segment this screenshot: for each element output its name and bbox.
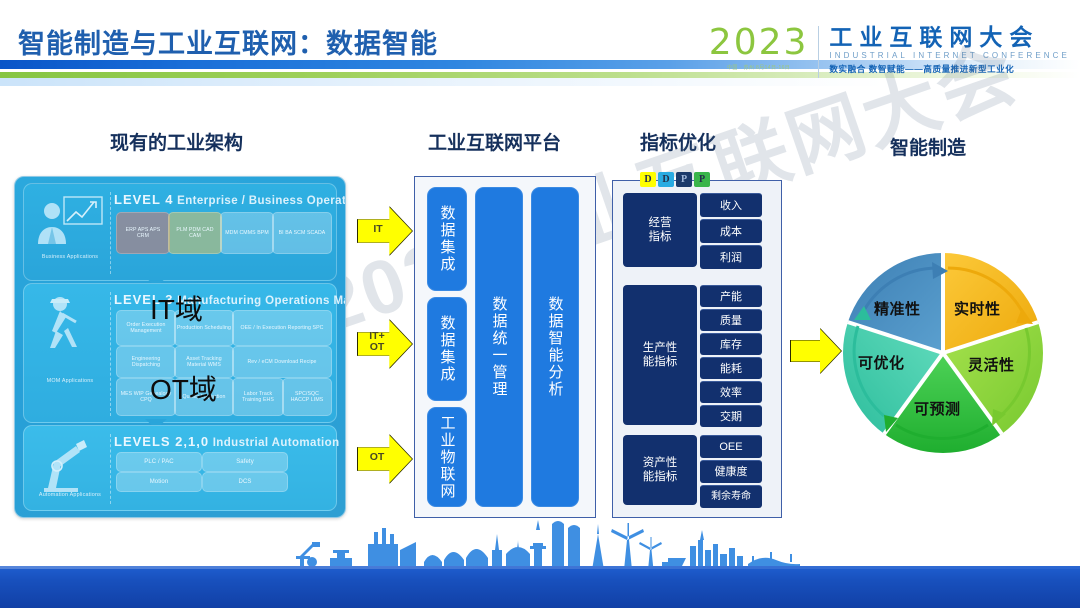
industrial-internet-platform-panel: 数据集成 数据集成 工业物联网 数据统一管理 数据智能分析 bbox=[414, 176, 596, 518]
indicator-tab-d1[interactable]: D bbox=[640, 172, 656, 187]
platform-block-unified-data-management[interactable]: 数据统一管理 bbox=[475, 187, 523, 507]
architecture-level-4: Business Applications LEVEL 4 Enterprise… bbox=[23, 183, 337, 281]
sea-band bbox=[0, 566, 1080, 608]
architecture-level-210-title: LEVELS 2,1,0 Industrial Automation bbox=[114, 434, 340, 449]
indicator-optimization-panel: 经营 指标 收入 成本 利润 生产性 能指标 产能 质量 库存 能耗 效率 交期… bbox=[612, 180, 782, 518]
architecture-chip: ERP APS APS CRM bbox=[116, 212, 170, 254]
architecture-chip: PLC / PAC bbox=[116, 452, 202, 472]
column-heading-indicators: 指标优化 bbox=[640, 128, 716, 155]
architecture-level-4-role: Business Applications bbox=[30, 254, 110, 260]
architecture-chip: BI BA SCM SCADA bbox=[272, 212, 332, 254]
conference-logo: 2023 中国 · 苏州 8月14日-16日 工业互联网大会 INDUSTRIA… bbox=[709, 24, 1070, 86]
logo-english-name: INDUSTRIAL INTERNET CONFERENCE bbox=[829, 51, 1070, 60]
indicator-item[interactable]: 健康度 bbox=[700, 460, 762, 483]
indicator-item[interactable]: OEE bbox=[700, 435, 762, 458]
logo-chinese-name: 工业互联网大会 bbox=[829, 24, 1070, 50]
flow-arrow-it-ot-label: IT+ OT bbox=[360, 331, 394, 353]
platform-block-data-integration-2[interactable]: 数据集成 bbox=[427, 297, 467, 401]
architecture-chip: Rev / eCM Download Recipe bbox=[232, 346, 332, 378]
indicator-item[interactable]: 效率 bbox=[700, 381, 762, 403]
architecture-chip: SPC/SQC HACCP LIMS bbox=[282, 378, 332, 416]
pie-label-flexibility: 灵活性 bbox=[968, 354, 1015, 375]
architecture-level-3-separator bbox=[110, 292, 112, 416]
flow-arrow-it-label: IT bbox=[362, 224, 394, 235]
architecture-level-3-title: LEVEL 3 Manufacturing Operations Managem… bbox=[114, 292, 346, 307]
indicator-tab-strip: D D P P bbox=[640, 172, 710, 187]
logo-year-subtitle: 中国 · 苏州 8月14日-16日 bbox=[709, 64, 809, 71]
flow-arrow-ot-label: OT bbox=[361, 452, 393, 463]
architecture-chip: Safety bbox=[202, 452, 288, 472]
indicator-group-production: 生产性 能指标 产能 质量 库存 能耗 效率 交期 bbox=[623, 285, 762, 427]
slide-root: 智能制造与工业互联网：数据智能 2023 中国 · 苏州 8月14日-16日 工… bbox=[0, 0, 1080, 608]
slide-footer bbox=[0, 522, 1080, 608]
pie-label-accuracy: 精准性 bbox=[874, 298, 921, 319]
pie-label-optimizable: 可优化 bbox=[858, 352, 905, 373]
logo-year: 2023 bbox=[709, 24, 809, 62]
indicator-item[interactable]: 质量 bbox=[700, 309, 762, 331]
architecture-chip: MDM CMMS BPM bbox=[220, 212, 274, 254]
indicator-item[interactable]: 剩余寿命 bbox=[700, 485, 762, 508]
column-heading-platform: 工业互联网平台 bbox=[428, 128, 561, 155]
platform-block-data-integration-1[interactable]: 数据集成 bbox=[427, 187, 467, 291]
domain-label-it: IT域 bbox=[150, 288, 203, 328]
architecture-chip: PLM PDM CAD CAM bbox=[168, 212, 222, 254]
indicator-group-production-title: 生产性 能指标 bbox=[623, 285, 697, 425]
architecture-level-210-name: Industrial Automation bbox=[213, 437, 340, 449]
pie-label-realtime: 实时性 bbox=[954, 298, 1001, 319]
architecture-chip: OEE / In Execution Reporting SPC bbox=[232, 310, 332, 346]
indicator-group-business-items: 收入 成本 利润 bbox=[700, 193, 762, 269]
indicator-group-production-items: 产能 质量 库存 能耗 效率 交期 bbox=[700, 285, 762, 427]
column-heading-manufacturing: 智能制造 bbox=[890, 133, 966, 160]
architecture-level-210: Automation Applications LEVELS 2,1,0 Ind… bbox=[23, 425, 337, 511]
smart-manufacturing-pie-chart: 实时性 灵活性 可预测 可优化 精准性 bbox=[836, 246, 1050, 460]
architecture-chip: Motion bbox=[116, 472, 202, 492]
slide-header: 智能制造与工业互联网：数据智能 2023 中国 · 苏州 8月14日-16日 工… bbox=[0, 0, 1080, 92]
indicator-group-asset: 资产性 能指标 OEE 健康度 剩余寿命 bbox=[623, 435, 762, 508]
platform-block-industrial-iot[interactable]: 工业物联网 bbox=[427, 407, 467, 507]
indicator-group-business-title: 经营 指标 bbox=[623, 193, 697, 267]
worker-walking-icon bbox=[34, 294, 106, 352]
indicator-tab-p2[interactable]: P bbox=[694, 172, 710, 187]
platform-block-intelligent-data-analysis[interactable]: 数据智能分析 bbox=[531, 187, 579, 507]
indicator-item[interactable]: 收入 bbox=[700, 193, 762, 217]
businessperson-chart-icon bbox=[34, 194, 106, 252]
architecture-level-210-separator bbox=[110, 434, 112, 504]
city-skyline-icon bbox=[0, 520, 1080, 570]
logo-divider bbox=[818, 26, 819, 78]
architecture-level-4-title: LEVEL 4 Enterprise / Business Operations bbox=[114, 192, 346, 207]
indicator-tab-d2[interactable]: D bbox=[658, 172, 674, 187]
architecture-level-4-separator bbox=[110, 192, 112, 274]
indicator-item[interactable]: 库存 bbox=[700, 333, 762, 355]
indicator-tab-p1[interactable]: P bbox=[676, 172, 692, 187]
robot-arm-icon bbox=[34, 436, 106, 494]
logo-year-block: 2023 中国 · 苏州 8月14日-16日 bbox=[709, 24, 809, 71]
logo-slogan: 数实融合 数智赋能——高质量推进新型工业化 bbox=[829, 63, 1070, 75]
column-heading-architecture: 现有的工业架构 bbox=[110, 128, 243, 155]
page-title: 智能制造与工业互联网：数据智能 bbox=[18, 22, 438, 61]
indicator-item[interactable]: 成本 bbox=[700, 219, 762, 243]
indicator-item[interactable]: 产能 bbox=[700, 285, 762, 307]
architecture-level-210-role: Automation Applications bbox=[30, 492, 110, 498]
industrial-architecture-diagram: Business Applications LEVEL 4 Enterprise… bbox=[14, 176, 346, 518]
architecture-chip: DCS bbox=[202, 472, 288, 492]
architecture-level-210-code: LEVELS 2,1,0 bbox=[114, 434, 209, 449]
architecture-level-4-name: Enterprise / Business Operations bbox=[177, 195, 346, 207]
logo-text-block: 工业互联网大会 INDUSTRIAL INTERNET CONFERENCE 数… bbox=[829, 24, 1070, 75]
indicator-item[interactable]: 利润 bbox=[700, 245, 762, 269]
architecture-chip: Labor Track Training EHS bbox=[232, 378, 284, 416]
indicator-group-asset-title: 资产性 能指标 bbox=[623, 435, 697, 505]
architecture-level-4-code: LEVEL 4 bbox=[114, 192, 174, 207]
indicator-item[interactable]: 能耗 bbox=[700, 357, 762, 379]
architecture-level-3-role: MOM Applications bbox=[30, 378, 110, 384]
domain-label-ot: OT域 bbox=[150, 368, 217, 408]
indicator-group-business: 经营 指标 收入 成本 利润 bbox=[623, 193, 762, 269]
indicator-item[interactable]: 交期 bbox=[700, 405, 762, 427]
pie-label-predictable: 可预测 bbox=[914, 398, 961, 419]
indicator-group-asset-items: OEE 健康度 剩余寿命 bbox=[700, 435, 762, 508]
